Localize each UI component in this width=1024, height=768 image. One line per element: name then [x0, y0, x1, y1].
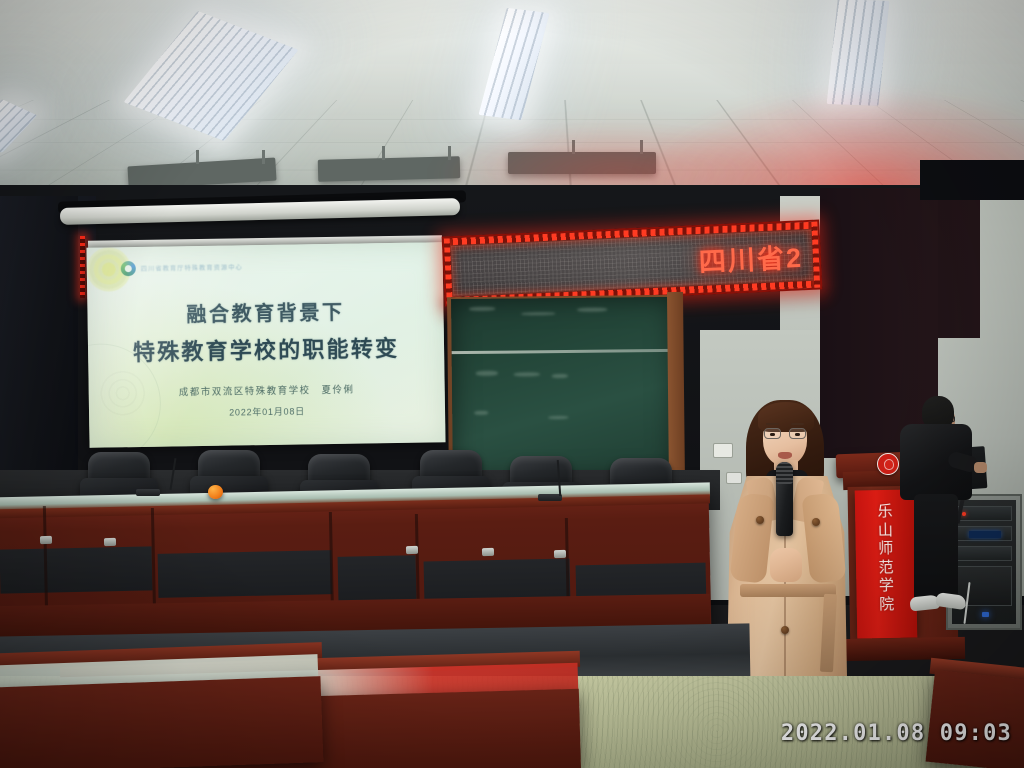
led-banner-text: 四川省2 — [698, 236, 804, 280]
technician-hand — [974, 462, 987, 473]
table-front-panel — [158, 550, 333, 598]
table-hardware — [40, 536, 52, 544]
chalk-smudge — [514, 372, 540, 376]
chalkboard — [451, 297, 675, 481]
table-front-panel — [338, 555, 417, 601]
ceiling — [0, 0, 1024, 205]
baffle-hanger — [262, 150, 265, 164]
audience-desk — [0, 676, 323, 768]
camera-timestamp: 2022.01.08 09:03 — [781, 721, 1012, 746]
presenter-coat-belt — [740, 584, 836, 597]
podium-banner-char: 范 — [878, 559, 893, 576]
desk-microphone-base — [136, 489, 160, 496]
screen-glare — [86, 242, 445, 448]
chalk-smudge — [476, 371, 498, 376]
chalk-smudge — [469, 307, 495, 311]
coat-button — [781, 626, 789, 634]
chalk-smudge — [577, 308, 607, 312]
av-technician — [900, 396, 984, 626]
audience-desk — [926, 670, 1024, 768]
chalk-smudge — [548, 416, 568, 419]
red-led-strip-icon — [80, 236, 85, 298]
coat-button — [756, 516, 764, 524]
baffle-hanger — [196, 150, 199, 164]
technician-shoe — [935, 592, 967, 610]
table-hardware — [482, 548, 494, 556]
table-hardware — [104, 538, 116, 546]
podium-base — [843, 637, 965, 661]
podium-banner-char: 乐 — [877, 504, 892, 521]
chalk-smudge — [552, 374, 568, 378]
podium-banner-char: 师 — [878, 541, 893, 558]
podium-banner-char: 山 — [878, 522, 893, 539]
presenter-eye — [795, 433, 800, 436]
glasses-lens — [789, 428, 806, 439]
projection-screen: 四川省教育厅特殊教育资源中心 融合教育背景下 特殊教育学校的职能转变 成都市双流… — [86, 242, 445, 448]
table-hardware — [406, 546, 418, 554]
presenter-hands — [770, 548, 802, 582]
technician-trousers — [914, 494, 958, 604]
orange-fruit — [208, 485, 223, 499]
baffle-hanger — [382, 146, 385, 160]
ceiling-shadow-band — [920, 160, 1024, 200]
glasses-icon — [764, 428, 806, 439]
presenter-eye — [770, 433, 775, 436]
podium-banner-char: 学 — [879, 578, 894, 595]
chalkboard-rail — [452, 349, 674, 354]
chalk-smudge — [474, 411, 488, 415]
presenter-mouth — [778, 452, 792, 459]
chalk-smudge — [521, 312, 555, 315]
stage-curtain-left — [0, 196, 78, 496]
presenter-brow — [766, 423, 779, 425]
table-hardware — [554, 550, 566, 558]
glasses-lens — [764, 428, 781, 439]
podium-banner-char: 院 — [879, 596, 894, 613]
coat-button — [812, 518, 820, 526]
chalkboard-post — [667, 292, 685, 488]
table-front-panel — [0, 546, 152, 593]
presenter-brow — [791, 423, 804, 425]
microphone-grille-icon — [776, 462, 793, 484]
photo-scene: 四川省教育厅特殊教育资源中心 融合教育背景下 特殊教育学校的职能转变 成都市双流… — [0, 0, 1024, 768]
